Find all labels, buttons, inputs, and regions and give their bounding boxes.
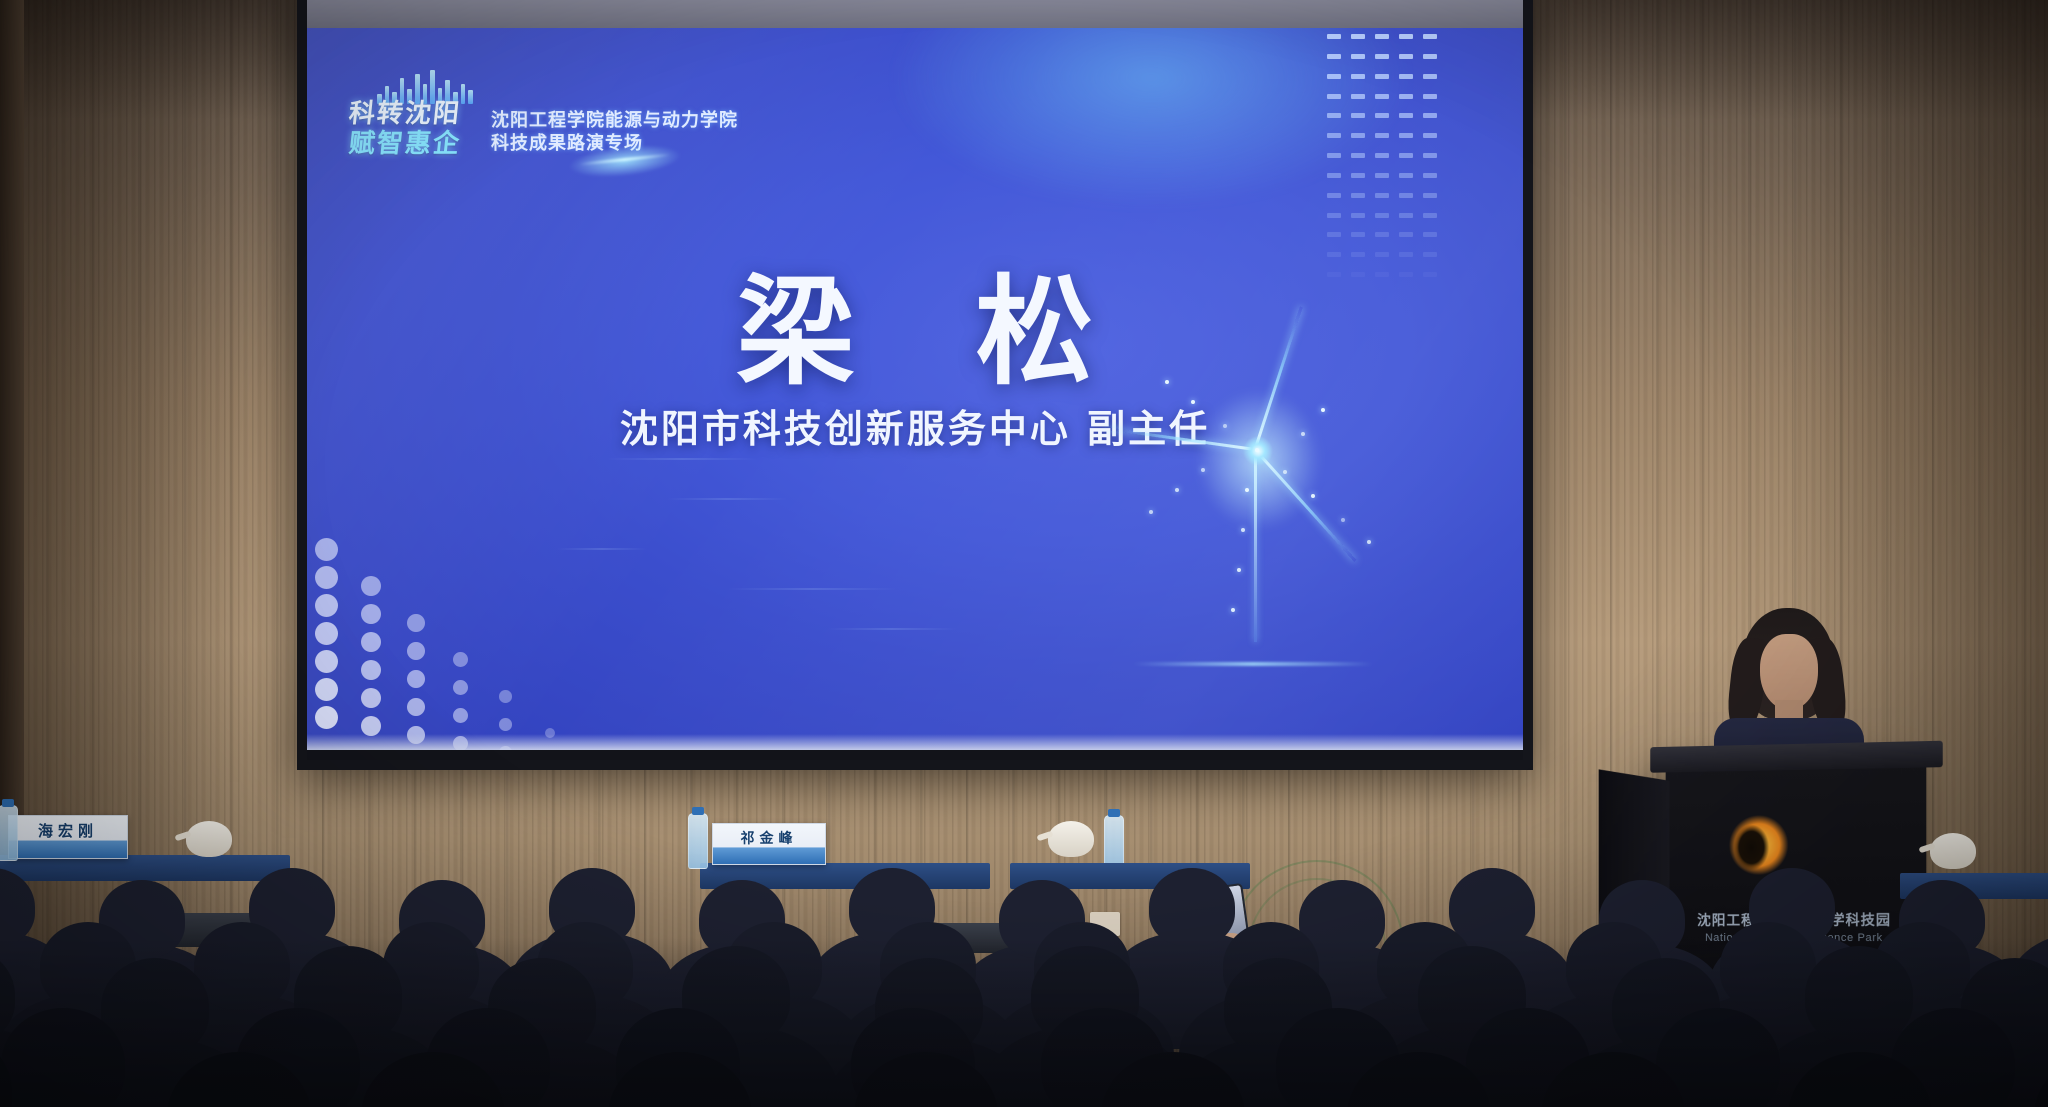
audience-area: 海宏刚 祁金峰 — [0, 687, 2048, 1107]
name-placard: 海宏刚 — [8, 815, 128, 859]
teapot — [186, 821, 232, 857]
teapot — [1930, 833, 1976, 869]
water-bottle — [688, 813, 708, 869]
audience-head — [1149, 868, 1235, 946]
audience-head — [1449, 868, 1535, 946]
water-bottle — [0, 805, 18, 861]
placard-name: 海宏刚 — [38, 820, 98, 841]
placard-name: 祁金峰 — [741, 828, 798, 848]
audience-head — [194, 922, 290, 1010]
screen-bezel — [297, 0, 1533, 770]
audience-head — [1720, 922, 1816, 1010]
presentation-scene: 科转沈阳 赋智惠企 沈阳工程学院能源与动力学院 科技成果路演专场 梁 松 沈阳市… — [0, 0, 2048, 1107]
audience-head — [1805, 946, 1913, 1044]
projection-screen-frame: 科转沈阳 赋智惠企 沈阳工程学院能源与动力学院 科技成果路演专场 梁 松 沈阳市… — [297, 0, 1533, 770]
name-placard: 祁金峰 — [712, 823, 826, 865]
teapot — [1048, 821, 1094, 857]
